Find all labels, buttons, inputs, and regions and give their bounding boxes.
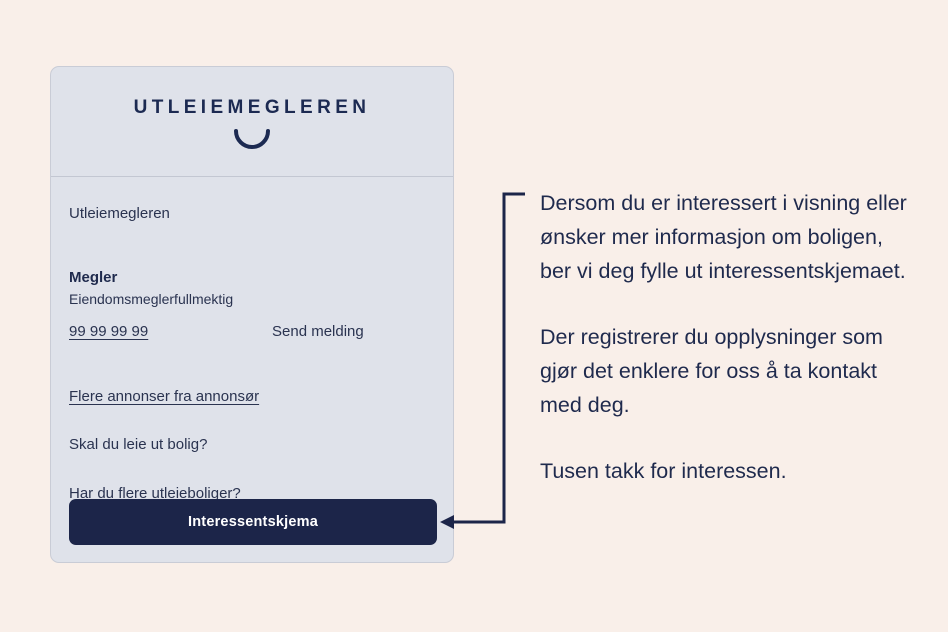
more-ads-from-advertiser-link[interactable]: Flere annonser fra annonsør xyxy=(69,387,259,406)
interest-form-button[interactable]: Interessentskjema xyxy=(69,499,437,545)
agency-name: Utleiemegleren xyxy=(69,205,435,223)
broker-role-title: Megler xyxy=(69,268,435,287)
contact-row: 99 99 99 99 Send melding xyxy=(69,322,435,341)
smile-arc-icon xyxy=(51,129,453,151)
annotation-connector xyxy=(430,180,540,540)
rent-out-property-link[interactable]: Skal du leie ut bolig? xyxy=(69,435,207,454)
annotation-text-block: Dersom du er interessert i visning eller… xyxy=(540,186,912,488)
phone-number-link[interactable]: 99 99 99 99 xyxy=(69,322,272,341)
send-message-link[interactable]: Send melding xyxy=(272,322,364,341)
broker-role-subtitle: Eiendomsmeglerfullmektig xyxy=(69,290,435,308)
brand-logo-text: UTLEIEMEGLEREN xyxy=(51,97,453,119)
card-body: Utleiemegleren Megler Eiendomsmeglerfull… xyxy=(51,177,453,503)
agent-contact-card: UTLEIEMEGLEREN Utleiemegleren Megler Eie… xyxy=(50,66,454,563)
annotation-paragraph-1: Dersom du er interessert i visning eller… xyxy=(540,186,912,288)
annotation-paragraph-2: Der registrerer du opplysninger som gjør… xyxy=(540,320,912,422)
card-header: UTLEIEMEGLEREN xyxy=(51,67,453,177)
annotation-paragraph-3: Tusen takk for interessen. xyxy=(540,454,912,488)
